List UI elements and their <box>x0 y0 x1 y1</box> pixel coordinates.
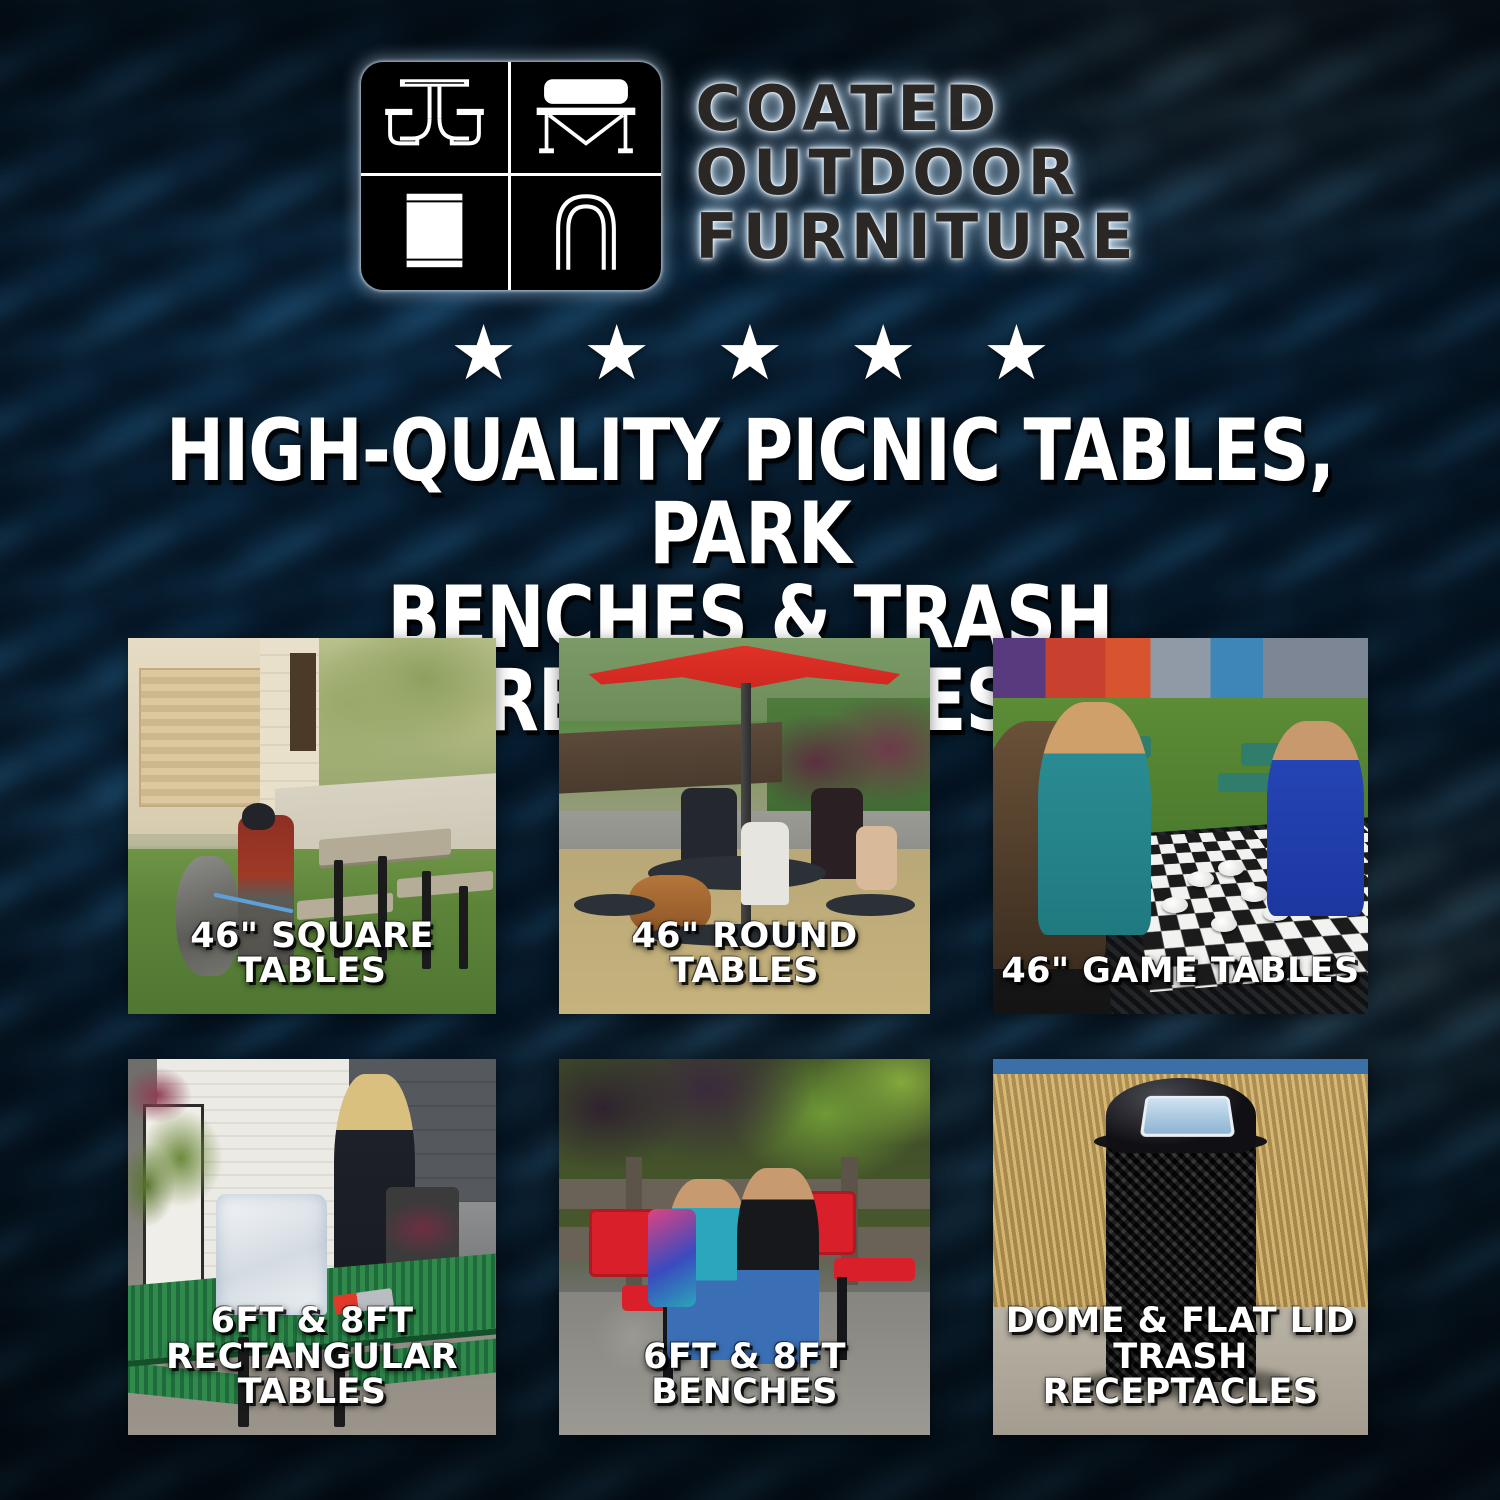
product-grid: 46" SQUARE TABLES <box>128 638 1374 1435</box>
headline-line-1: HIGH-QUALITY PICNIC TABLES, PARK <box>147 410 1353 577</box>
bike-rack-icon <box>511 176 661 290</box>
poster-canvas: COATED OUTDOOR FURNITURE ★ ★ ★ ★ ★ HIGH-… <box>0 0 1500 1500</box>
bench-table-icon <box>511 62 661 176</box>
caption-line-2: BENCHES <box>567 1375 922 1411</box>
product-tile-square-tables[interactable]: 46" SQUARE TABLES <box>128 638 496 1014</box>
product-caption: 46" SQUARE TABLES <box>128 919 496 990</box>
brand-word-furniture: FURNITURE <box>695 206 1138 268</box>
brand-word-outdoor: OUTDOOR <box>695 142 1138 204</box>
product-tile-benches[interactable]: 6FT & 8FT BENCHES <box>559 1059 930 1435</box>
trash-receptacle-icon <box>361 176 511 290</box>
caption-line-1: 46" SQUARE TABLES <box>190 916 433 992</box>
caption-line-2: TRASH RECEPTACLES <box>1001 1340 1360 1411</box>
product-caption: DOME & FLAT LID TRASH RECEPTACLES <box>993 1304 1368 1411</box>
product-caption: 46" GAME TABLES <box>993 954 1368 990</box>
caption-line-1: 6FT & 8FT <box>643 1337 846 1377</box>
product-caption: 46" ROUND TABLES <box>559 919 930 990</box>
brand-lockup: COATED OUTDOOR FURNITURE <box>0 0 1500 290</box>
product-caption: 6FT & 8FT RECTANGULAR TABLES <box>128 1304 496 1411</box>
product-tile-round-tables[interactable]: 46" ROUND TABLES <box>559 638 930 1014</box>
caption-line-1: 46" ROUND TABLES <box>631 916 857 992</box>
caption-line-1: 46" GAME TABLES <box>1001 951 1359 991</box>
caption-line-1: DOME & FLAT LID <box>1006 1301 1355 1341</box>
product-tile-trash-receptacles[interactable]: DOME & FLAT LID TRASH RECEPTACLES <box>993 1059 1368 1435</box>
brand-wordmark: COATED OUTDOOR FURNITURE <box>695 78 1138 274</box>
caption-line-2: RECTANGULAR TABLES <box>136 1340 488 1411</box>
caption-line-1: 6FT & 8FT <box>211 1301 414 1341</box>
brand-word-coated: COATED <box>695 78 1138 140</box>
product-tile-rectangular-tables[interactable]: 6FT & 8FT RECTANGULAR TABLES <box>128 1059 496 1435</box>
poster-header: COATED OUTDOOR FURNITURE ★ ★ ★ ★ ★ HIGH-… <box>0 0 1500 744</box>
brand-logo-mark <box>361 62 661 290</box>
picnic-table-icon <box>361 62 511 176</box>
product-caption: 6FT & 8FT BENCHES <box>559 1340 930 1411</box>
star-rating: ★ ★ ★ ★ ★ <box>0 316 1500 392</box>
product-tile-game-tables[interactable]: 46" GAME TABLES <box>993 638 1368 1014</box>
